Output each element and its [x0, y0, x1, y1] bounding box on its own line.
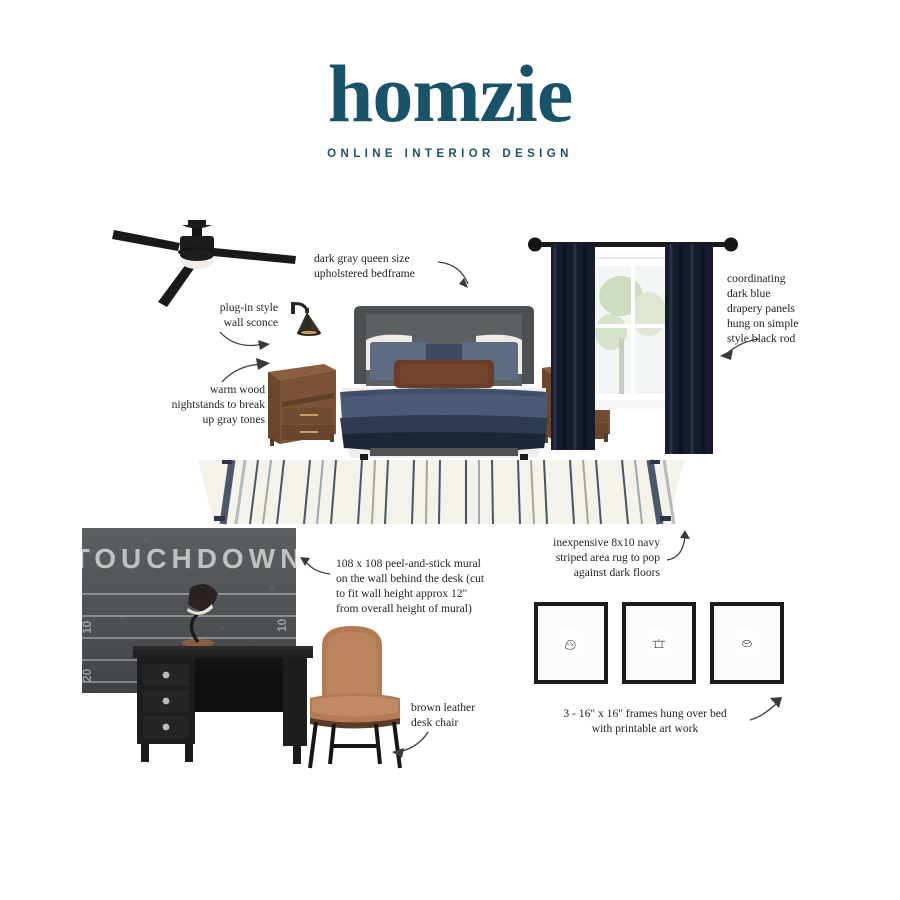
bed-product-image	[330, 302, 558, 470]
picture-frame	[710, 602, 784, 684]
annotation-drapery-arrow	[715, 337, 761, 363]
area-rug-product-image	[198, 452, 684, 526]
brand-logo: homzie ONLINE INTERIOR DESIGN	[0, 52, 900, 160]
annotation-mural-arrow	[298, 556, 332, 578]
desk-product-image	[133, 640, 313, 768]
brand-tagline: ONLINE INTERIOR DESIGN	[0, 148, 900, 160]
annotation-wall-sconce: plug-in style wall sconce	[178, 300, 278, 330]
svg-text:20: 20	[82, 668, 94, 682]
picture-frame	[622, 602, 696, 684]
annotation-wall-frames: 3 - 16" x 16" frames hung over bed with …	[551, 706, 739, 736]
ceiling-fan-product-image	[110, 218, 300, 308]
annotation-desk-chair: brown leather desk chair	[411, 700, 521, 730]
annotation-bedframe-arrow	[436, 258, 478, 292]
annotation-nightstands-arrow	[220, 358, 272, 384]
annotation-bedframe: dark gray queen size upholstered bedfram…	[314, 251, 444, 281]
annotation-drapery: coordinating dark blue drapery panels hu…	[727, 271, 837, 346]
nightstand-left-product-image	[266, 358, 338, 448]
annotation-desk-chair-arrow	[390, 730, 430, 758]
annotation-mural: 108 x 108 peel-and-stick mural on the wa…	[336, 556, 496, 616]
wall-frames-product-image	[534, 602, 784, 684]
window-and-drapery-product-image	[525, 228, 740, 460]
wall-sconce-product-image	[285, 300, 329, 342]
mural-text: TOUCHDOWN	[82, 543, 296, 574]
picture-frame	[534, 602, 608, 684]
svg-text:10: 10	[82, 620, 94, 634]
brand-name: homzie	[0, 52, 900, 136]
annotation-area-rug: inexpensive 8x10 navy striped area rug t…	[528, 535, 660, 580]
annotation-nightstands: warm wood nightstands to break up gray t…	[140, 382, 265, 427]
annotation-wall-sconce-arrow	[218, 330, 274, 354]
annotation-area-rug-arrow	[665, 530, 697, 562]
svg-text:10: 10	[275, 618, 289, 632]
annotation-wall-frames-arrow	[748, 696, 784, 722]
